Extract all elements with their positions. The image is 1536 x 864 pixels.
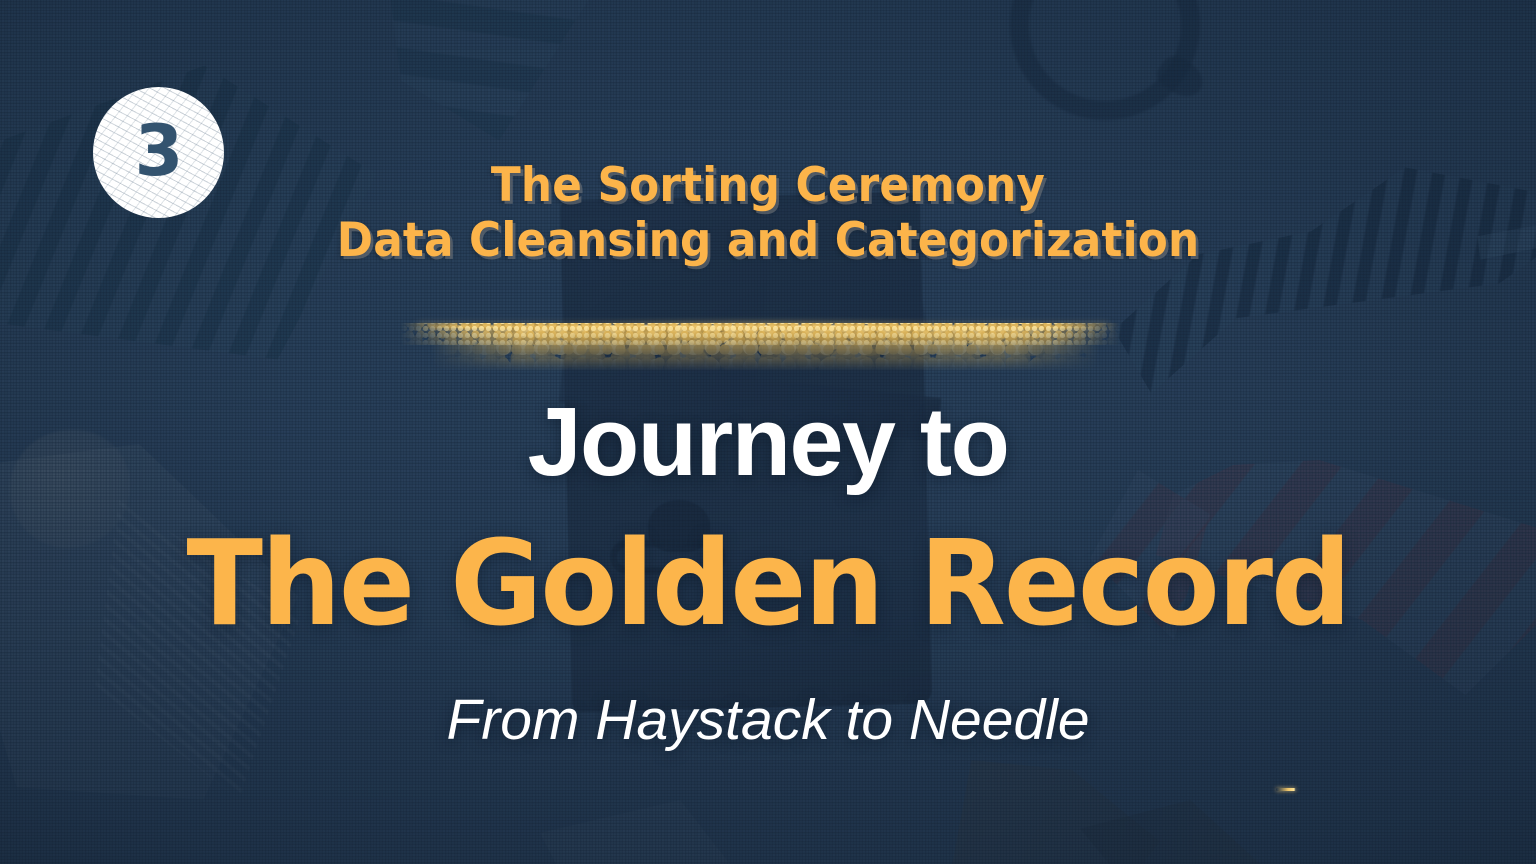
page-title-line-1: Journey to xyxy=(0,393,1536,490)
page-title-line-2: The Golden Record xyxy=(38,524,1497,642)
eyebrow-heading: The Sorting Ceremony Data Cleansing and … xyxy=(54,158,1482,269)
eyebrow-line-1: The Sorting Ceremony xyxy=(54,158,1482,213)
slide-content: The Sorting Ceremony Data Cleansing and … xyxy=(0,158,1536,749)
eyebrow-line-2: Data Cleansing and Categorization xyxy=(54,213,1482,268)
stray-sparkle-speck-icon xyxy=(1276,788,1296,791)
gold-sparkle-divider-icon xyxy=(0,285,1536,371)
sparkle-dust-fine xyxy=(400,323,1120,345)
title-slide: 3 The Sorting Ceremony Data Cleansing an… xyxy=(0,0,1536,864)
page-subtitle: From Haystack to Needle xyxy=(0,692,1536,749)
